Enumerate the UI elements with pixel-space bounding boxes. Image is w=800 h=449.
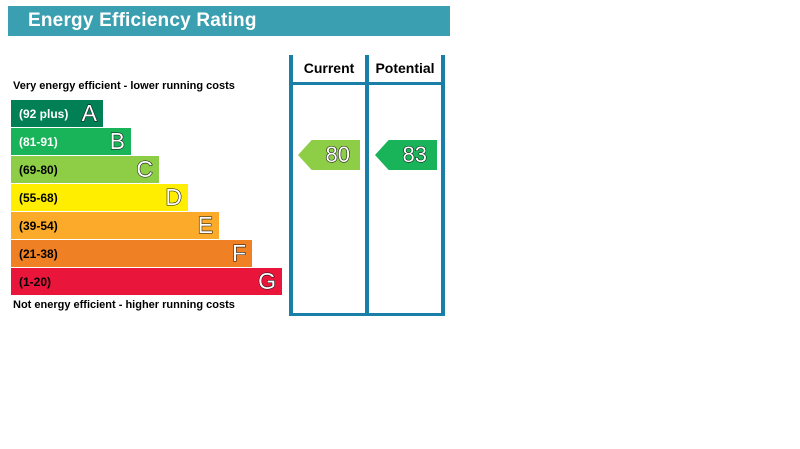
table-border-left xyxy=(289,55,293,316)
column-header-potential: Potential xyxy=(369,60,441,76)
band-letter-label: E xyxy=(198,214,213,237)
band-a: (92 plus)A xyxy=(11,100,103,127)
potential-rating-value: 83 xyxy=(403,144,437,166)
band-e: (39-54)E xyxy=(11,212,219,239)
table-bottom-rule xyxy=(289,313,445,316)
current-rating-value: 80 xyxy=(326,144,360,166)
ratings-table: Current Potential xyxy=(289,55,445,316)
band-g: (1-20)G xyxy=(11,268,282,295)
table-border-middle xyxy=(365,55,369,316)
band-f: (21-38)F xyxy=(11,240,252,267)
band-range-label: (81-91) xyxy=(19,135,58,149)
caption-very-efficient: Very energy efficient - lower running co… xyxy=(13,80,235,92)
band-letter-label: A xyxy=(82,102,97,125)
band-letter-label: G xyxy=(258,270,276,293)
table-border-right xyxy=(441,55,445,316)
band-letter-label: F xyxy=(232,242,246,265)
band-range-label: (21-38) xyxy=(19,247,58,261)
caption-not-efficient: Not energy efficient - higher running co… xyxy=(13,299,235,311)
band-letter-label: D xyxy=(165,186,182,209)
band-d: (55-68)D xyxy=(11,184,188,211)
band-b: (81-91)B xyxy=(11,128,131,155)
band-range-label: (1-20) xyxy=(19,275,51,289)
column-header-current: Current xyxy=(293,60,365,76)
band-letter-label: B xyxy=(110,130,125,153)
chart-body: Very energy efficient - lower running co… xyxy=(0,0,460,340)
band-range-label: (69-80) xyxy=(19,163,58,177)
band-range-label: (92 plus) xyxy=(19,107,68,121)
table-header-rule xyxy=(289,82,445,85)
band-c: (69-80)C xyxy=(11,156,159,183)
energy-efficiency-rating-chart: Energy Efficiency Rating Very energy eff… xyxy=(0,0,800,449)
band-range-label: (55-68) xyxy=(19,191,58,205)
band-range-label: (39-54) xyxy=(19,219,58,233)
band-letter-label: C xyxy=(136,158,153,181)
